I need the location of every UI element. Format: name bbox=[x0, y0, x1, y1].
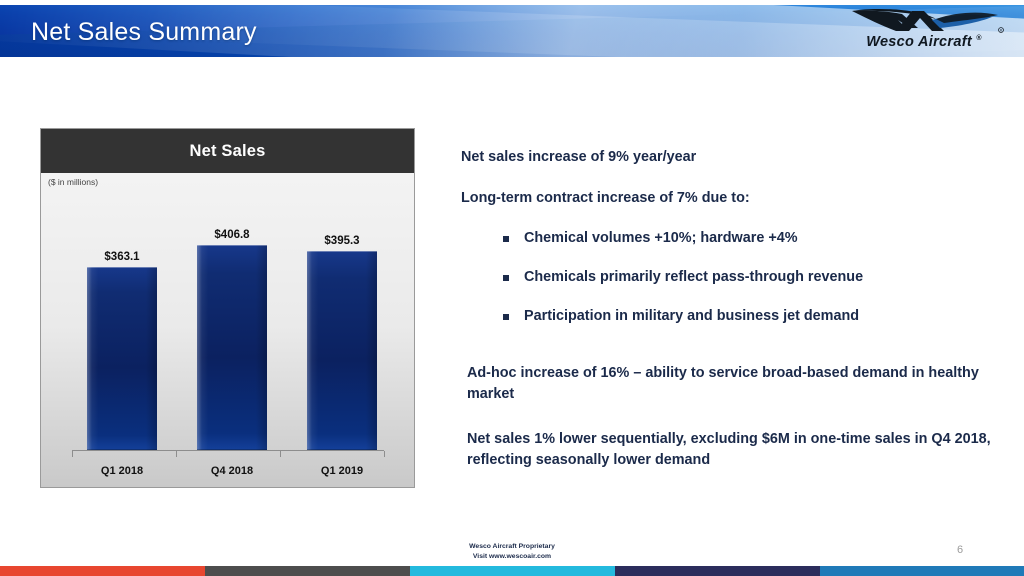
square-bullet-icon bbox=[503, 236, 509, 242]
bullet-item-pass-through-revenue: Chemicals primarily reflect pass-through… bbox=[461, 268, 1001, 286]
paragraph-adhoc-increase: Ad-hoc increase of 16% – ability to serv… bbox=[467, 363, 997, 405]
paragraph-net-sales-increase: Net sales increase of 9% year/year bbox=[461, 148, 1001, 167]
bullet-label: Chemicals primarily reflect pass-through… bbox=[524, 268, 863, 286]
footer-line-1: Wesco Aircraft Proprietary bbox=[0, 542, 1024, 552]
page-number: 6 bbox=[948, 544, 972, 556]
paragraph-sequential-decline: Net sales 1% lower sequentially, excludi… bbox=[467, 429, 1007, 471]
bottom-bar-red-segment bbox=[0, 566, 205, 576]
page-title: Net Sales Summary bbox=[31, 18, 257, 47]
bar-group-q4-2018: $406.8 bbox=[197, 229, 267, 450]
bar-value-label: $363.1 bbox=[87, 251, 157, 263]
bullet-label: Participation in military and business j… bbox=[524, 307, 859, 325]
chart-title-bar: Net Sales bbox=[41, 129, 414, 173]
bullet-label: Chemical volumes +10%; hardware +4% bbox=[524, 229, 798, 247]
bar-q1-2019[interactable] bbox=[307, 251, 377, 450]
paragraph-long-term-contract: Long-term contract increase of 7% due to… bbox=[461, 189, 1001, 208]
category-label-q1-2019: Q1 2019 bbox=[287, 465, 397, 477]
net-sales-chart: Net Sales ($ in millions) $363.1 $406.8 … bbox=[40, 128, 415, 488]
axis-tick bbox=[384, 451, 385, 457]
bar-q1-2018[interactable] bbox=[87, 267, 157, 450]
chart-x-axis-line bbox=[72, 450, 384, 451]
footer-proprietary-notice: Wesco Aircraft Proprietary Visit www.wes… bbox=[0, 542, 1024, 562]
logo-wordmark-text: Wesco Aircraft bbox=[866, 34, 972, 50]
bottom-bar-blue-segment bbox=[820, 566, 1024, 576]
bullet-item-military-business-jet: Participation in military and business j… bbox=[461, 307, 1001, 325]
bottom-bar-navy-segment bbox=[615, 566, 820, 576]
wesco-wa-swoosh-mark-icon: R bbox=[840, 8, 1008, 36]
category-label-q4-2018: Q4 2018 bbox=[177, 465, 287, 477]
category-label-q1-2018: Q1 2018 bbox=[67, 465, 177, 477]
bottom-bar-cyan-segment bbox=[410, 566, 615, 576]
bullet-item-chemical-volumes: Chemical volumes +10%; hardware +4% bbox=[461, 229, 1001, 247]
chart-title: Net Sales bbox=[189, 142, 265, 161]
bar-value-label: $406.8 bbox=[197, 229, 267, 241]
bar-group-q1-2018: $363.1 bbox=[87, 251, 157, 450]
bar-q4-2018[interactable] bbox=[197, 245, 267, 450]
chart-plot-area: $363.1 $406.8 $395.3 Q1 2018 Q4 2018 Q1 … bbox=[41, 173, 414, 489]
logo-wordmark: Wesco Aircraft ® bbox=[840, 34, 1008, 50]
registered-trademark-icon: ® bbox=[976, 35, 981, 42]
bar-group-q1-2019: $395.3 bbox=[307, 235, 377, 450]
axis-tick bbox=[176, 451, 177, 457]
axis-tick bbox=[280, 451, 281, 457]
content-column: Net sales increase of 9% year/year Long-… bbox=[461, 148, 1001, 346]
wesco-aircraft-logo: R Wesco Aircraft ® bbox=[840, 8, 1008, 54]
bottom-bar-gray-segment bbox=[205, 566, 410, 576]
square-bullet-icon bbox=[503, 314, 509, 320]
square-bullet-icon bbox=[503, 275, 509, 281]
axis-tick bbox=[72, 451, 73, 457]
bottom-color-bar bbox=[0, 566, 1024, 576]
footer-line-2: Visit www.wescoair.com bbox=[0, 552, 1024, 562]
bar-value-label: $395.3 bbox=[307, 235, 377, 247]
